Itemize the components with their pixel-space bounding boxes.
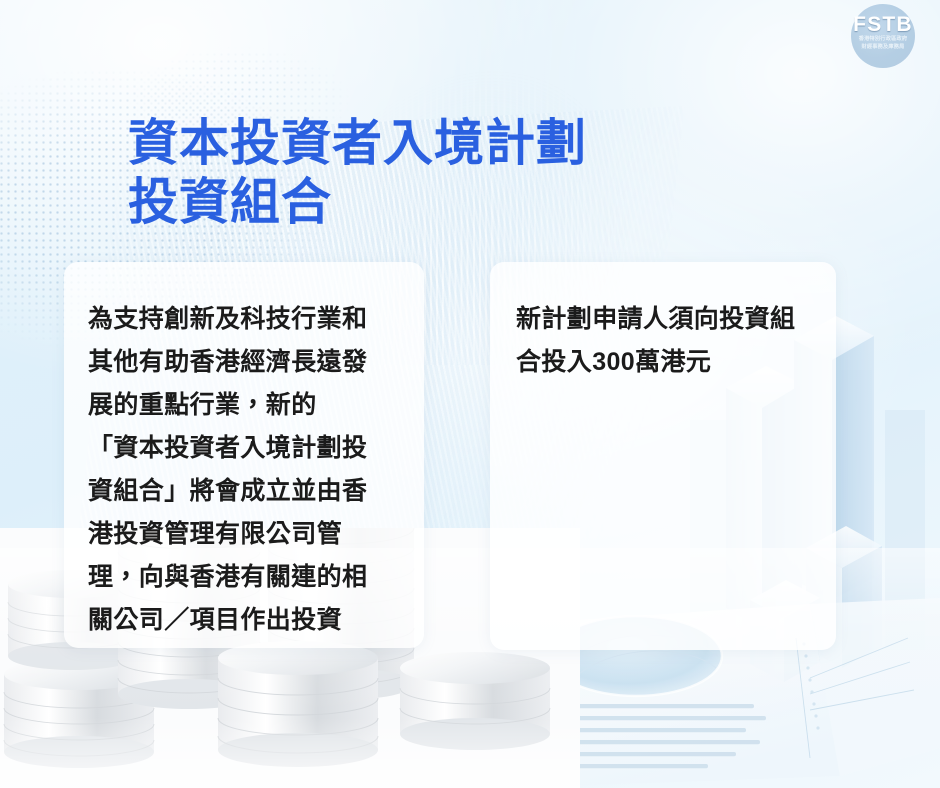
purpose-line: 其他有助香港經濟長遠發: [88, 341, 406, 384]
logo-subtitle-cn-1: 香港特別行政區政府: [846, 36, 920, 44]
purpose-line: 為支持創新及科技行業和: [88, 298, 406, 341]
logo-subtitle-cn-2: 財經事務及庫務局: [846, 44, 920, 52]
purpose-line: 理，向與香港有關連的相: [88, 556, 406, 599]
purpose-card-text: 為支持創新及科技行業和 其他有助香港經濟長遠發 展的重點行業，新的 「資本投資者…: [64, 262, 424, 642]
fstb-logo: FSTB 香港特別行政區政府 財經事務及庫務局: [846, 12, 920, 64]
purpose-line: 港投資管理有限公司管: [88, 513, 406, 556]
page-title: 資本投資者入境計劃 投資組合: [128, 114, 828, 232]
page-title-line-1: 資本投資者入境計劃: [128, 114, 828, 173]
amount-card-text: 新計劃申請人須向投資組 合投入300萬港元: [490, 262, 836, 384]
purpose-line: 資組合」將會成立並由香: [88, 470, 406, 513]
purpose-card: 為支持創新及科技行業和 其他有助香港經濟長遠發 展的重點行業，新的 「資本投資者…: [64, 262, 424, 648]
logo-wordmark: FSTB: [846, 14, 920, 36]
slide-root: FSTB 香港特別行政區政府 財經事務及庫務局 資本投資者入境計劃 投資組合 為…: [0, 0, 940, 788]
amount-card: 新計劃申請人須向投資組 合投入300萬港元: [490, 262, 836, 650]
purpose-line: 關公司／項目作出投資: [88, 599, 406, 642]
page-title-line-2: 投資組合: [128, 173, 828, 232]
amount-line: 合投入300萬港元: [516, 341, 818, 384]
purpose-line: 展的重點行業，新的: [88, 384, 406, 427]
amount-line: 新計劃申請人須向投資組: [516, 298, 818, 341]
purpose-line: 「資本投資者入境計劃投: [88, 427, 406, 470]
